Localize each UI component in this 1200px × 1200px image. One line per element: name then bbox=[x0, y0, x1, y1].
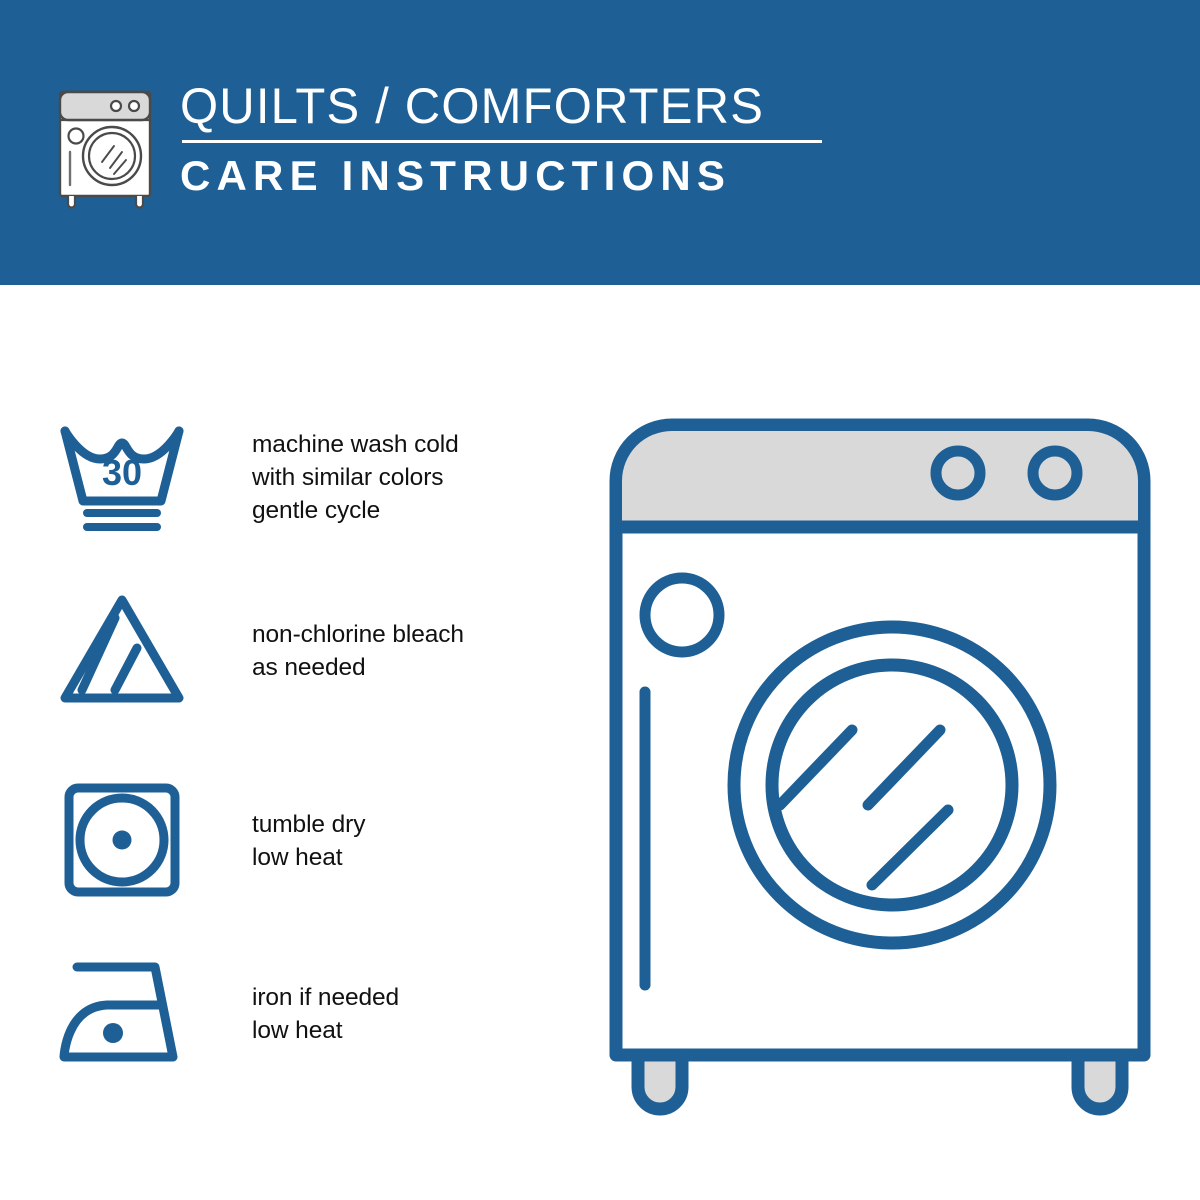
logo-door-inner-icon bbox=[89, 133, 135, 179]
iron-heat-dot bbox=[103, 1023, 123, 1043]
header-content: QUILTS / COMFORTERS CARE INSTRUCTIONS bbox=[52, 78, 822, 210]
tumble-dry-low-heat-icon bbox=[55, 780, 190, 900]
control-knob-icon[interactable] bbox=[936, 451, 980, 495]
logo-knob-icon bbox=[111, 101, 121, 111]
header-titles: QUILTS / COMFORTERS CARE INSTRUCTIONS bbox=[180, 78, 822, 201]
care-row-machine-wash: 30 machine wash cold with similar colors… bbox=[55, 415, 459, 535]
washing-machine-icon bbox=[52, 80, 158, 210]
care-row-iron: iron if needed low heat bbox=[55, 953, 399, 1073]
logo-indicator-icon bbox=[69, 129, 84, 144]
wash-temperature-label: 30 bbox=[102, 452, 142, 493]
non-chlorine-bleach-triangle-icon bbox=[55, 590, 190, 710]
care-instructions-list: 30 machine wash cold with similar colors… bbox=[0, 285, 560, 1200]
gentle-cycle-bar bbox=[83, 509, 161, 517]
page-subtitle: CARE INSTRUCTIONS bbox=[180, 151, 822, 201]
title-divider bbox=[182, 140, 822, 143]
iron-low-heat-icon bbox=[55, 953, 190, 1073]
care-row-tumble-dry: tumble dry low heat bbox=[55, 780, 365, 900]
logo-knob-icon bbox=[129, 101, 139, 111]
header-banner: QUILTS / COMFORTERS CARE INSTRUCTIONS bbox=[0, 0, 1200, 285]
machine-leg bbox=[1078, 1055, 1122, 1109]
care-text-bleach: non-chlorine bleach as needed bbox=[252, 618, 464, 684]
machine-leg bbox=[638, 1055, 682, 1109]
care-text-iron: iron if needed low heat bbox=[252, 981, 399, 1047]
indicator-light-icon bbox=[645, 578, 719, 652]
washing-machine-illustration bbox=[600, 405, 1160, 1125]
care-row-bleach: non-chlorine bleach as needed bbox=[55, 590, 464, 710]
care-text-tumble-dry: tumble dry low heat bbox=[252, 808, 365, 874]
wash-tub-30-gentle-icon: 30 bbox=[55, 415, 190, 535]
dry-heat-dot bbox=[113, 831, 132, 850]
care-text-machine-wash: machine wash cold with similar colors ge… bbox=[252, 428, 459, 527]
control-knob-icon[interactable] bbox=[1033, 451, 1077, 495]
gentle-cycle-bar bbox=[83, 523, 161, 531]
page-title: QUILTS / COMFORTERS bbox=[180, 78, 809, 134]
